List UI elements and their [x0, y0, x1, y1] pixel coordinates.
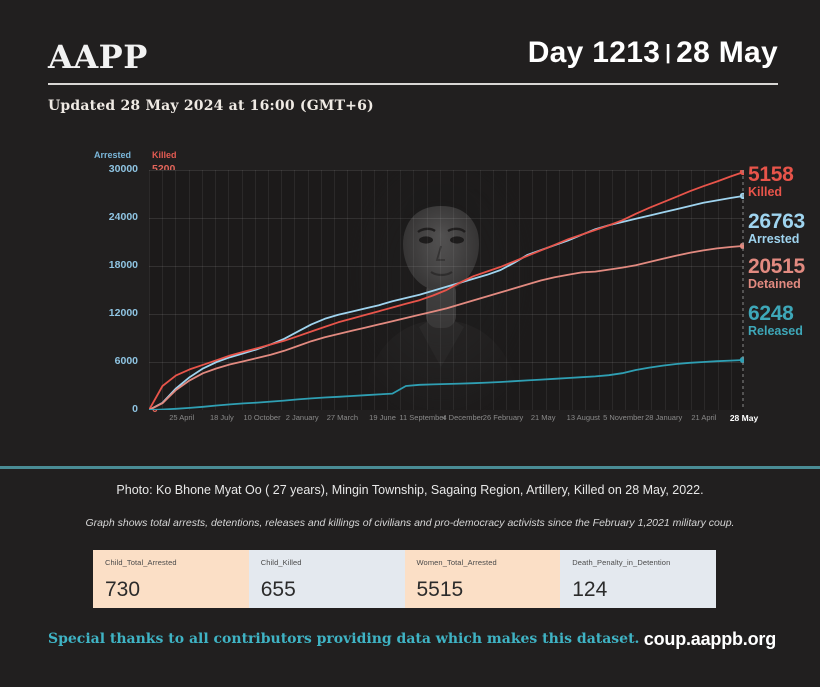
callout-arrested: 26763 Arrested [748, 211, 820, 246]
callout-released-label: Released [748, 325, 820, 338]
chart-series-lines [149, 170, 744, 410]
stat-card-value: 655 [261, 578, 296, 602]
series-line-released [149, 360, 744, 410]
callout-detained: 20515 Detained [748, 256, 820, 291]
callout-arrested-label: Arrested [748, 233, 820, 246]
aapp-daily-poster: AAPP Day 1213|28 May Updated 28 May 2024… [0, 0, 820, 687]
chart-plot-area [149, 170, 744, 410]
brand-title: AAPP [48, 38, 148, 76]
callout-killed: 5158 Killed [748, 164, 820, 199]
x-tick-label: 11 September [399, 413, 446, 422]
x-tick-label: 28 May [730, 413, 758, 423]
stat-card-women-total-arrested: Women_Total_Arrested 5515 [405, 550, 561, 608]
day-count-label: Day 1213 [528, 36, 661, 69]
x-tick-label: 5 November [603, 413, 644, 422]
x-tick-label: 19 June [369, 413, 396, 422]
stat-card-death-penalty-in-detention: Death_Penalty_in_Detention 124 [560, 550, 716, 608]
callout-arrested-value: 26763 [748, 211, 820, 232]
stat-card-title: Women_Total_Arrested [417, 558, 549, 567]
series-line-killed [149, 172, 744, 410]
x-tick-label: 2 January [286, 413, 319, 422]
y-tick-left: 12000 [48, 307, 138, 319]
y-tick-left: 24000 [48, 211, 138, 223]
section-divider [0, 466, 820, 469]
x-tick-label: 25 April [169, 413, 194, 422]
x-tick-label: 18 July [210, 413, 234, 422]
x-tick-label: 21 May [531, 413, 556, 422]
updated-timestamp: Updated 28 May 2024 at 16:00 (GMT+6) [48, 98, 374, 114]
summary-stat-cards: Child_Total_Arrested 730 Child_Killed 65… [93, 550, 716, 608]
stat-card-title: Death_Penalty_in_Detention [572, 558, 704, 567]
photo-caption: Photo: Ko Bhone Myat Oo ( 27 years), Min… [0, 483, 820, 497]
x-tick-label: 13 August [567, 413, 600, 422]
footer-website-url: coup.aappb.org [644, 629, 776, 650]
y-tick-left: 6000 [48, 355, 138, 367]
footer-thanks-text: Special thanks to all contributors provi… [48, 631, 639, 647]
header-divider-rule [48, 83, 778, 85]
stat-card-value: 124 [572, 578, 607, 602]
stat-card-title: Child_Killed [261, 558, 393, 567]
graph-description-note: Graph shows total arrests, detentions, r… [0, 517, 820, 529]
callout-released-value: 6248 [748, 303, 820, 324]
callout-detained-value: 20515 [748, 256, 820, 277]
day-date-separator: | [665, 42, 671, 65]
x-tick-label: 28 January [645, 413, 682, 422]
series-line-detained [149, 246, 744, 410]
current-date-label: 28 May [676, 36, 778, 69]
x-tick-label: 21 April [691, 413, 716, 422]
stat-card-child-killed: Child_Killed 655 [249, 550, 405, 608]
y-tick-left: 0 [48, 403, 138, 415]
callout-killed-label: Killed [748, 186, 820, 199]
timeseries-chart: Arrested Killed 006000100012000210018000… [48, 150, 772, 440]
stat-card-value: 5515 [417, 578, 464, 602]
series-line-arrested [149, 196, 744, 410]
x-tick-label: 10 October [243, 413, 280, 422]
x-tick-label: 26 February [483, 413, 523, 422]
callout-detained-label: Detained [748, 278, 820, 291]
left-axis-title: Arrested [94, 150, 131, 160]
y-tick-left: 30000 [48, 163, 138, 175]
stat-card-value: 730 [105, 578, 140, 602]
value-callouts: 5158 Killed 26763 Arrested 20515 Detaine… [748, 164, 820, 340]
day-date-title: Day 1213|28 May [528, 36, 778, 70]
y-tick-left: 18000 [48, 259, 138, 271]
x-tick-label: 27 March [327, 413, 358, 422]
stat-card-child-total-arrested: Child_Total_Arrested 730 [93, 550, 249, 608]
x-axis-tick-layer: 25 April18 July10 October2 January27 Mar… [149, 413, 744, 435]
stat-card-title: Child_Total_Arrested [105, 558, 237, 567]
callout-released: 6248 Released [748, 303, 820, 338]
x-tick-label: 4 December [442, 413, 483, 422]
callout-killed-value: 5158 [748, 164, 820, 185]
right-axis-title: Killed [152, 150, 177, 160]
